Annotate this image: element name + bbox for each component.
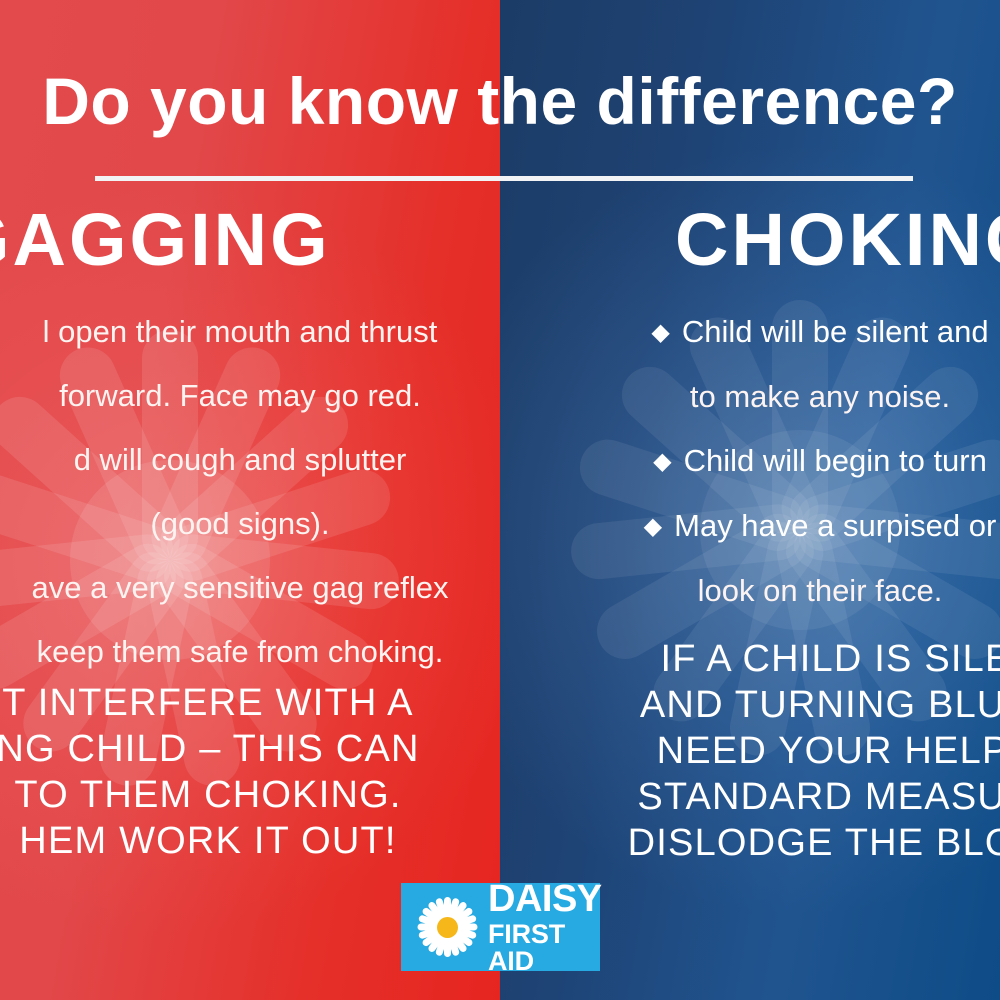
gagging-line: l open their mouth and thrust <box>0 300 520 364</box>
gagging-body: l open their mouth and thrust forward. F… <box>0 300 520 684</box>
diamond-bullet-icon: ◆ <box>644 495 662 559</box>
gagging-warning: T INTERFERE WITH A NG CHILD – THIS CAN T… <box>0 680 488 864</box>
logo-name-daisy: DAISY <box>488 880 602 918</box>
daisy-flower-icon <box>415 895 479 959</box>
choking-line-text: Child will be silent and <box>682 314 989 349</box>
title-divider <box>95 176 913 181</box>
gagging-line: d will cough and splutter <box>0 428 520 492</box>
infographic-poster: Do you know the difference? GAGGING CHOK… <box>0 0 1000 1000</box>
diamond-bullet-icon: ◆ <box>651 301 669 365</box>
choking-body: ◆Child will be silent and to make any no… <box>540 300 1000 623</box>
choking-line: ◆Child will be silent and <box>540 300 1000 365</box>
gagging-heading: GAGGING <box>0 203 331 277</box>
diamond-bullet-icon: ◆ <box>653 430 671 494</box>
choking-line-text: Child will begin to turn <box>684 443 987 478</box>
choking-warning: IF A CHILD IS SILE AND TURNING BLUE NEED… <box>556 636 1000 866</box>
logo-name-first-aid: FIRST AID <box>488 921 602 975</box>
gagging-warning-line: HEM WORK IT OUT! <box>0 818 488 864</box>
logo-wordmark: DAISY FIRST AID <box>488 880 602 975</box>
choking-line: to make any noise. <box>540 365 1000 429</box>
gagging-warning-line: NG CHILD – THIS CAN <box>0 726 488 772</box>
choking-line: look on their face. <box>540 559 1000 623</box>
choking-warning-line: STANDARD MEASUR <box>556 774 1000 820</box>
daisy-first-aid-logo[interactable]: DAISY FIRST AID <box>401 883 600 971</box>
gagging-warning-line: TO THEM CHOKING. <box>0 772 488 818</box>
choking-warning-line: NEED YOUR HELP. <box>556 728 1000 774</box>
choking-line: ◆May have a surpised or <box>540 494 1000 559</box>
page-title: Do you know the difference? <box>0 68 1000 134</box>
gagging-line: (good signs). <box>0 492 520 556</box>
choking-warning-line: IF A CHILD IS SILE <box>556 636 1000 682</box>
gagging-warning-line: T INTERFERE WITH A <box>0 680 488 726</box>
gagging-line: ave a very sensitive gag reflex <box>0 556 520 620</box>
choking-line-text: May have a surpised or <box>674 508 996 543</box>
choking-line: ◆Child will begin to turn <box>540 429 1000 494</box>
choking-warning-line: AND TURNING BLUE <box>556 682 1000 728</box>
choking-warning-line: DISLODGE THE BLOC <box>556 820 1000 866</box>
gagging-line: keep them safe from choking. <box>0 620 520 684</box>
gagging-line: forward. Face may go red. <box>0 364 520 428</box>
choking-heading: CHOKING <box>675 203 1000 277</box>
